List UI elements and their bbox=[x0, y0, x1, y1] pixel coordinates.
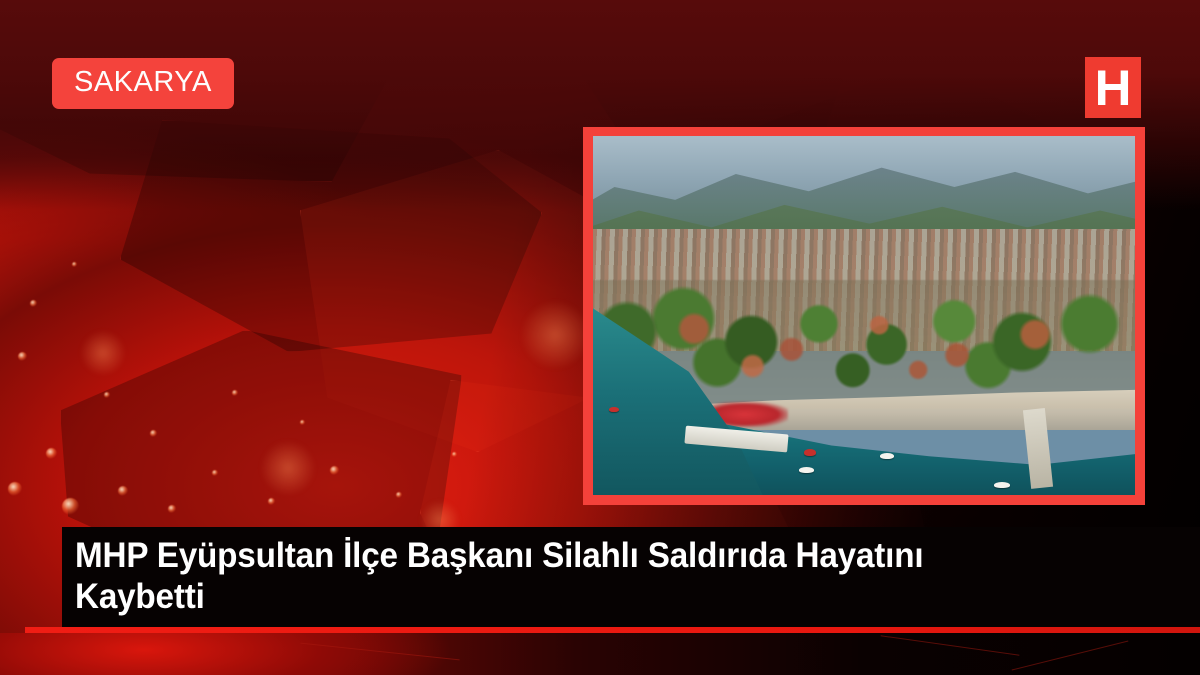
bokeh-particle bbox=[104, 392, 110, 398]
bokeh-particle bbox=[520, 300, 590, 370]
headline-title: MHP Eyüpsultan İlçe Başkanı Silahlı Sald… bbox=[75, 535, 1125, 618]
bokeh-particle bbox=[46, 448, 57, 459]
bokeh-particle bbox=[268, 498, 275, 505]
bokeh-particle bbox=[232, 390, 238, 396]
bokeh-particle bbox=[118, 486, 128, 496]
map-outline bbox=[300, 643, 459, 661]
bokeh-particle bbox=[18, 352, 27, 361]
bokeh-particle bbox=[168, 505, 176, 513]
bokeh-particle bbox=[30, 300, 37, 307]
map-outline bbox=[881, 635, 1020, 655]
location-badge: SAKARYA bbox=[52, 58, 234, 109]
photo-rooftops bbox=[626, 301, 1114, 394]
photo-frame bbox=[583, 127, 1145, 505]
bokeh-particle bbox=[80, 330, 126, 376]
site-logo[interactable]: H bbox=[1085, 57, 1141, 118]
bokeh-particle bbox=[260, 440, 316, 496]
bokeh-particle bbox=[212, 470, 218, 476]
bokeh-particle bbox=[72, 262, 77, 267]
bokeh-particle bbox=[150, 430, 157, 437]
photo-boat bbox=[994, 482, 1010, 488]
headline-bar: MHP Eyüpsultan İlçe Başkanı Silahlı Sald… bbox=[62, 527, 1200, 627]
news-photo bbox=[593, 136, 1135, 495]
logo-h-icon: H bbox=[1095, 63, 1131, 113]
bokeh-particle bbox=[396, 492, 402, 498]
photo-boat bbox=[804, 449, 816, 456]
bokeh-particle bbox=[300, 420, 305, 425]
photo-boat bbox=[880, 453, 894, 459]
bokeh-particle bbox=[452, 452, 457, 457]
bokeh-particle bbox=[62, 498, 79, 515]
news-card: SAKARYA H MHP Eyüpsultan İlçe Başkan bbox=[0, 0, 1200, 675]
bokeh-particle bbox=[330, 466, 339, 475]
bokeh-particle bbox=[8, 482, 22, 496]
bottom-strip bbox=[0, 633, 1200, 675]
map-outline bbox=[1012, 640, 1129, 670]
